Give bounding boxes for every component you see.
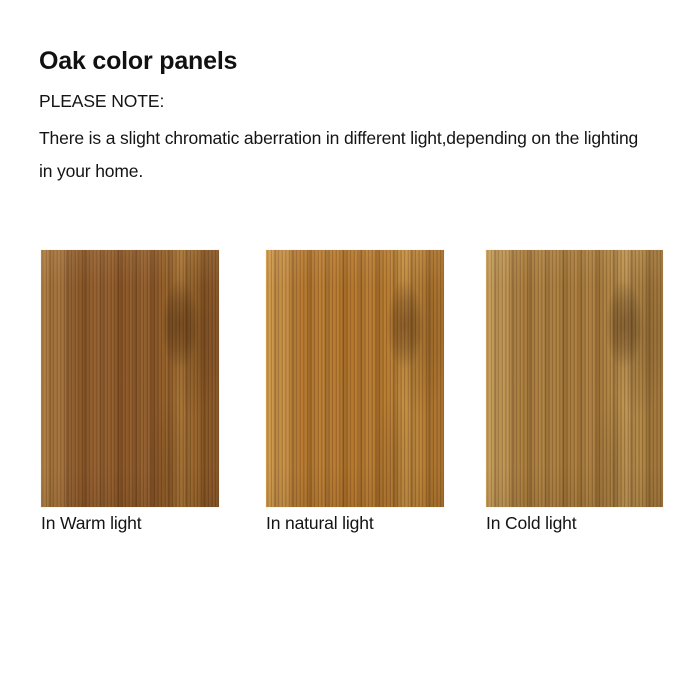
wood-shading-layer	[41, 250, 219, 507]
wood-shading-layer	[486, 250, 663, 507]
wood-swatch-image-warm	[41, 250, 219, 507]
wood-swatch-image-natural	[266, 250, 444, 507]
color-swatch-cold: In Cold light	[486, 250, 663, 507]
color-swatch-warm: In Warm light	[41, 250, 219, 507]
chromatic-aberration-note: There is a slight chromatic aberration i…	[39, 122, 639, 188]
swatch-caption-warm: In Warm light	[41, 512, 141, 534]
wood-shading-layer	[266, 250, 444, 507]
please-note-label: PLEASE NOTE:	[39, 90, 659, 112]
color-swatch-row: In Warm light In natural light In Cold l…	[0, 250, 700, 550]
swatch-caption-cold: In Cold light	[486, 512, 576, 534]
page-title: Oak color panels	[39, 46, 659, 76]
header-text-block: Oak color panels PLEASE NOTE: There is a…	[39, 46, 659, 188]
color-swatch-natural: In natural light	[266, 250, 444, 507]
swatch-caption-natural: In natural light	[266, 512, 374, 534]
product-color-info-page: Oak color panels PLEASE NOTE: There is a…	[0, 0, 700, 700]
wood-swatch-image-cold	[486, 250, 663, 507]
